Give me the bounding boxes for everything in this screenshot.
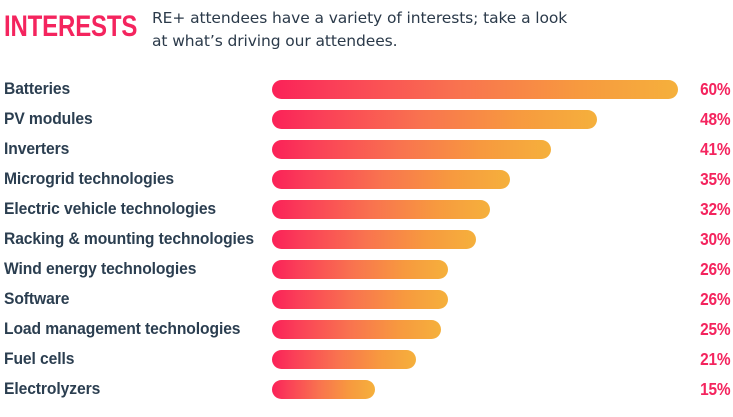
bar-fill bbox=[272, 200, 490, 219]
bar-fill bbox=[272, 350, 416, 369]
bar-track bbox=[272, 74, 678, 104]
bar-fill bbox=[272, 260, 448, 279]
bar-track bbox=[272, 284, 678, 314]
bar-row: Batteries60% bbox=[0, 74, 733, 104]
bar-track bbox=[272, 374, 678, 404]
bar-category-label: PV modules bbox=[4, 104, 93, 134]
bar-value-label: 26% bbox=[700, 284, 730, 314]
bar-fill bbox=[272, 170, 510, 189]
bar-value-label: 41% bbox=[700, 134, 730, 164]
bar-track bbox=[272, 134, 678, 164]
bar-track bbox=[272, 344, 678, 374]
bar-row: Software26% bbox=[0, 284, 733, 314]
bar-value-label: 25% bbox=[700, 314, 730, 344]
bar-fill bbox=[272, 110, 597, 129]
bar-row: Electrolyzers15% bbox=[0, 374, 733, 404]
subtitle-line-1: RE+ attendees have a variety of interest… bbox=[152, 7, 727, 30]
bar-row: Load management technologies25% bbox=[0, 314, 733, 344]
bar-value-label: 60% bbox=[700, 74, 730, 104]
header-subtitle: RE+ attendees have a variety of interest… bbox=[152, 7, 727, 53]
bar-category-label: Racking & mounting technologies bbox=[4, 224, 254, 254]
bar-track bbox=[272, 314, 678, 344]
bar-track bbox=[272, 104, 678, 134]
chart-header: INTERESTS RE+ attendees have a variety o… bbox=[0, 0, 733, 72]
bar-value-label: 48% bbox=[700, 104, 730, 134]
bar-track bbox=[272, 224, 678, 254]
bar-value-label: 30% bbox=[700, 224, 730, 254]
bar-row: Racking & mounting technologies30% bbox=[0, 224, 733, 254]
bar-row: Microgrid technologies35% bbox=[0, 164, 733, 194]
bar-value-label: 35% bbox=[700, 164, 730, 194]
bar-fill bbox=[272, 80, 678, 99]
bar-row: Fuel cells21% bbox=[0, 344, 733, 374]
bar-value-label: 21% bbox=[700, 344, 730, 374]
bar-category-label: Wind energy technologies bbox=[4, 254, 196, 284]
bar-category-label: Microgrid technologies bbox=[4, 164, 174, 194]
bar-value-label: 32% bbox=[700, 194, 730, 224]
bar-category-label: Electrolyzers bbox=[4, 374, 100, 404]
bar-fill bbox=[272, 230, 476, 249]
bar-category-label: Fuel cells bbox=[4, 344, 74, 374]
bar-value-label: 15% bbox=[700, 374, 730, 404]
bar-row: PV modules48% bbox=[0, 104, 733, 134]
bar-row: Electric vehicle technologies32% bbox=[0, 194, 733, 224]
bar-value-label: 26% bbox=[700, 254, 730, 284]
bar-category-label: Load management technologies bbox=[4, 314, 240, 344]
bar-category-label: Batteries bbox=[4, 74, 70, 104]
bar-fill bbox=[272, 140, 551, 159]
bar-track bbox=[272, 164, 678, 194]
bar-fill bbox=[272, 380, 375, 399]
bar-track bbox=[272, 194, 678, 224]
bar-fill bbox=[272, 290, 448, 309]
subtitle-line-2: at what’s driving our attendees. bbox=[152, 30, 727, 53]
page-title: INTERESTS bbox=[4, 11, 137, 43]
bar-category-label: Inverters bbox=[4, 134, 69, 164]
bar-chart: Batteries60%PV modules48%Inverters41%Mic… bbox=[0, 74, 733, 417]
bar-track bbox=[272, 254, 678, 284]
bar-category-label: Electric vehicle technologies bbox=[4, 194, 216, 224]
bar-fill bbox=[272, 320, 441, 339]
bar-category-label: Software bbox=[4, 284, 69, 314]
interests-infographic: INTERESTS RE+ attendees have a variety o… bbox=[0, 0, 733, 417]
bar-row: Wind energy technologies26% bbox=[0, 254, 733, 284]
bar-row: Inverters41% bbox=[0, 134, 733, 164]
